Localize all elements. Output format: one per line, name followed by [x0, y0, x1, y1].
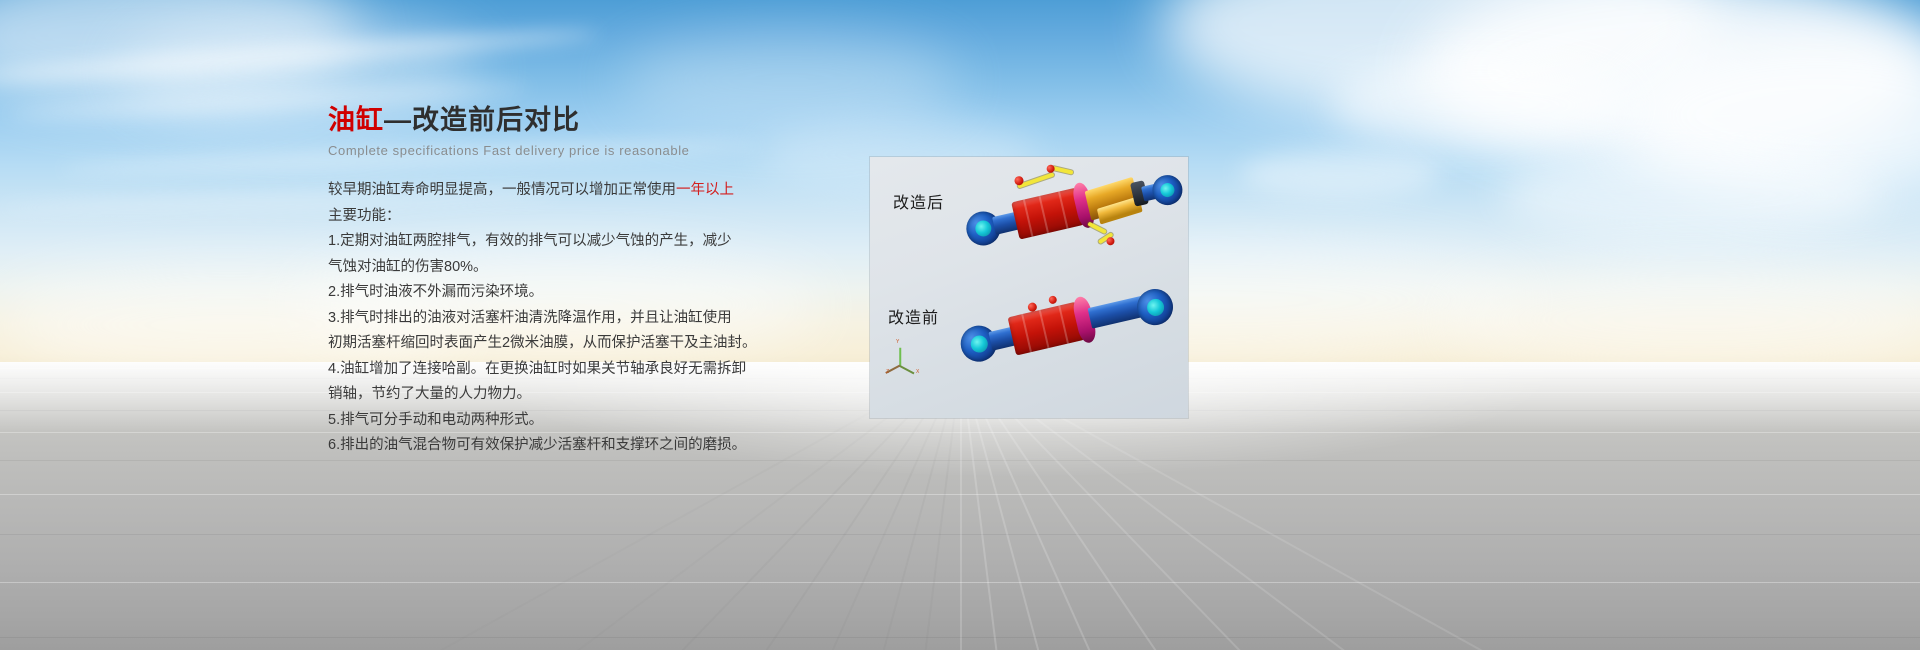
description-line-text: 2.排气时油液不外漏而污染环境。 [328, 284, 543, 300]
description-line: 4.油缸增加了连接哈副。在更换油缸时如果关节轴承良好无需拆卸 [328, 357, 798, 383]
valve-knob [1048, 295, 1058, 305]
page-subtitle: Complete specifications Fast delivery pr… [328, 143, 798, 158]
cloud-shape [1500, 150, 1880, 240]
cylinder-eye-end [1133, 285, 1176, 328]
description-line: 主要功能： [328, 204, 798, 230]
label-after-modification: 改造后 [893, 189, 944, 213]
description-line-text: 销轴，节约了大量的人力物力。 [328, 386, 531, 402]
description-line-text: 气蚀对油缸的伤害80%。 [328, 259, 488, 275]
cylinder-eye-end [1149, 172, 1185, 208]
description-line: 2.排气时油液不外漏而污染环境。 [328, 280, 798, 306]
axis-label-x: X [916, 369, 919, 375]
description-line-highlight: 一年以上 [676, 182, 734, 198]
cloud-shape [1330, 60, 1630, 150]
cloud-shape [1240, 150, 1440, 198]
axis-label-z: Z [886, 369, 889, 375]
page-title: 油缸—改造前后对比 [328, 104, 798, 136]
label-before-modification: 改造前 [888, 304, 939, 328]
description-line: 初期活塞杆缩回时表面产生2微米油膜，从而保护活塞干及主油封。 [328, 331, 798, 357]
description-line-text: 初期活塞杆缩回时表面产生2微米油膜，从而保护活塞干及主油封。 [328, 335, 757, 351]
axis-label-y: Y [896, 339, 899, 345]
description-line-text: 1.定期对油缸两腔排气，有效的排气可以减少气蚀的产生，减少 [328, 233, 732, 249]
description-line-text: 6.排出的油气混合物可有效保护减少活塞杆和支撑环之间的磨损。 [328, 437, 746, 453]
description-line: 销轴，节约了大量的人力物力。 [328, 382, 798, 408]
description-line-text: 主要功能： [328, 208, 401, 224]
title-highlight: 油缸 [328, 105, 384, 135]
description-line-text: 较早期油缸寿命明显提高，一般情况可以增加正常使用 [328, 182, 676, 198]
description-line-text: 3.排气时排出的油液对活塞杆油清洗降温作用，并且让油缸使用 [328, 310, 732, 326]
axis-x [900, 365, 915, 374]
comparison-image-panel: 改造后 改造前 [870, 157, 1188, 418]
description-line: 较早期油缸寿命明显提高，一般情况可以增加正常使用一年以上 [328, 178, 798, 204]
description-line: 气蚀对油缸的伤害80%。 [328, 255, 798, 281]
description-line: 3.排气时排出的油液对活塞杆油清洗降温作用，并且让油缸使用 [328, 306, 798, 332]
description-line-text: 5.排气可分手动和电动两种形式。 [328, 412, 543, 428]
feature-description: 较早期油缸寿命明显提高，一般情况可以增加正常使用一年以上主要功能：1.定期对油缸… [328, 178, 798, 459]
banner-text-block: 油缸—改造前后对比 Complete specifications Fast d… [328, 104, 798, 459]
description-line: 1.定期对油缸两腔排气，有效的排气可以减少气蚀的产生，减少 [328, 229, 798, 255]
hero-banner: 油缸—改造前后对比 Complete specifications Fast d… [0, 0, 1920, 650]
title-rest: —改造前后对比 [384, 105, 580, 135]
cloud-shape [1450, 265, 1920, 375]
description-line-text: 4.油缸增加了连接哈副。在更换油缸时如果关节轴承良好无需拆卸 [328, 361, 746, 377]
axis-y [899, 348, 901, 366]
valve-knob [1106, 236, 1116, 246]
coordinate-axis-triad: Y X Z [886, 335, 928, 375]
description-line: 6.排出的油气混合物可有效保护减少活塞杆和支撑环之间的磨损。 [328, 433, 798, 459]
description-line: 5.排气可分手动和电动两种形式。 [328, 408, 798, 434]
